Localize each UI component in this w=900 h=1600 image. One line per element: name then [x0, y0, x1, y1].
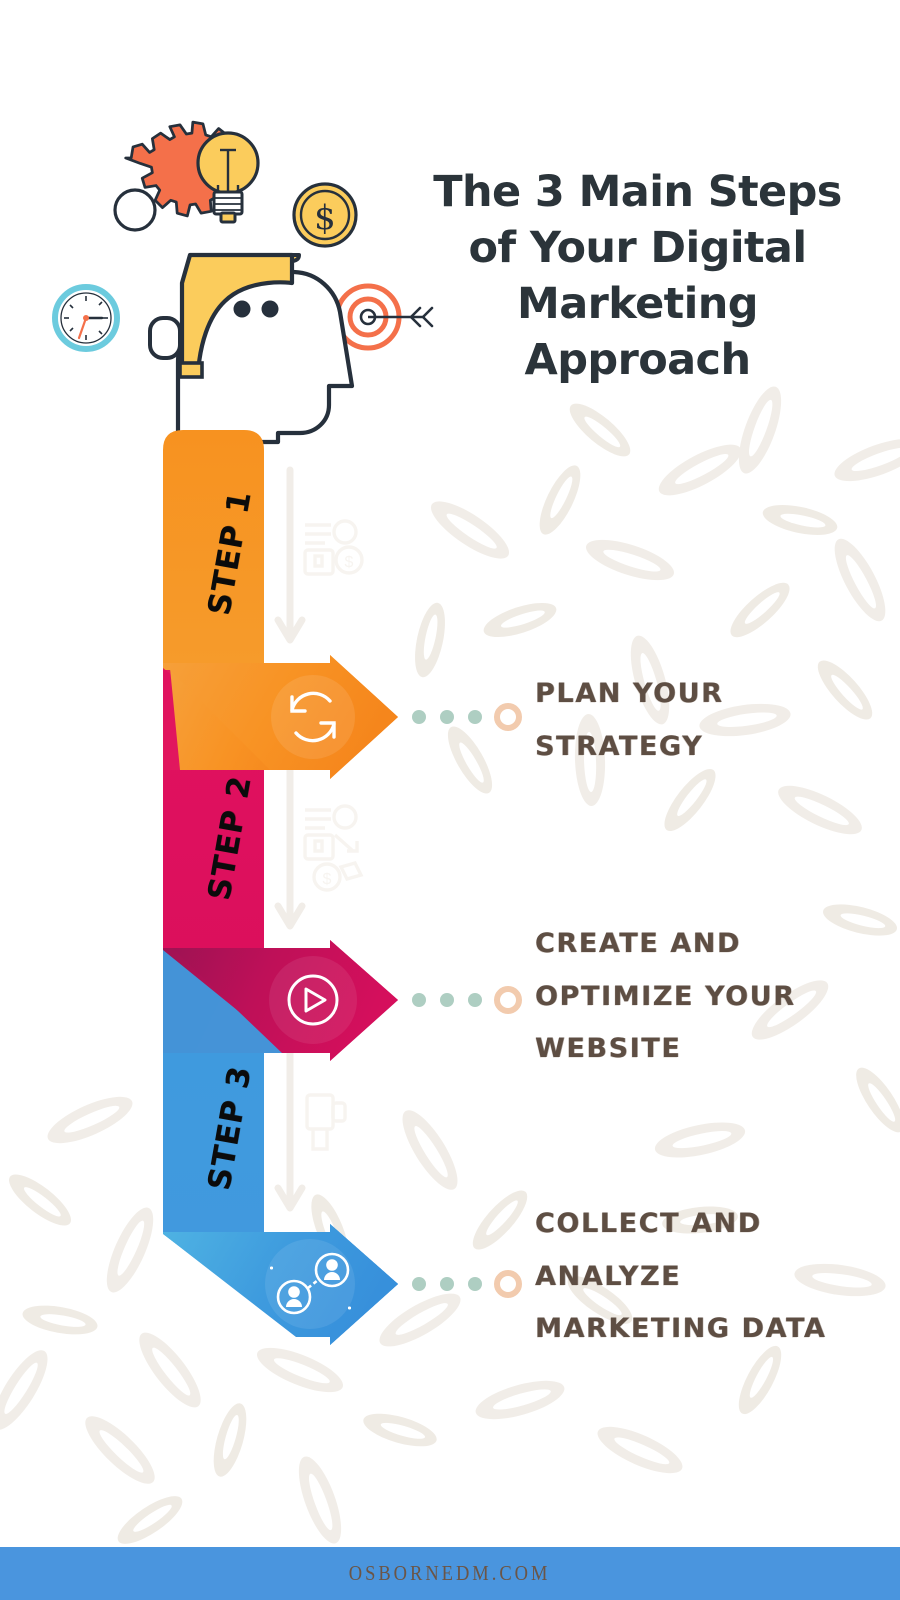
- step-1-caption: PLAN YOUR STRATEGY: [535, 668, 900, 773]
- footer-website-url[interactable]: OSBORNEDM.COM: [349, 1561, 551, 1586]
- steps-flow-diagram: $ $: [0, 0, 900, 1600]
- step-3-arrow: [163, 1224, 398, 1345]
- svg-text:$: $: [323, 871, 332, 888]
- svg-text:$: $: [345, 554, 354, 571]
- step-1-caption-line-1: PLAN YOUR: [535, 668, 900, 721]
- footer-band: OSBORNEDM.COM: [0, 1547, 900, 1600]
- step-2-arrow: [163, 940, 398, 1061]
- infographic-canvas: $: [0, 0, 900, 1600]
- step-3-caption-line-3: MARKETING DATA: [535, 1303, 900, 1356]
- step-2-caption-line-3: WEBSITE: [535, 1023, 900, 1076]
- step-3-caption: COLLECT AND ANALYZE MARKETING DATA: [535, 1198, 900, 1356]
- connector-3: [412, 1273, 519, 1295]
- step-3-caption-line-1: COLLECT AND: [535, 1198, 900, 1251]
- connector-1: [412, 706, 519, 728]
- step-2-caption-line-1: CREATE AND: [535, 918, 900, 971]
- flow-guide-arrows: [278, 470, 302, 1208]
- step-2-caption: CREATE AND OPTIMIZE YOUR WEBSITE: [535, 918, 900, 1076]
- step-1-arrow: [163, 655, 398, 779]
- step-1-caption-line-2: STRATEGY: [535, 721, 900, 774]
- step-2-caption-line-2: OPTIMIZE YOUR: [535, 971, 900, 1024]
- step-3-caption-line-2: ANALYZE: [535, 1251, 900, 1304]
- connector-2: [412, 989, 519, 1011]
